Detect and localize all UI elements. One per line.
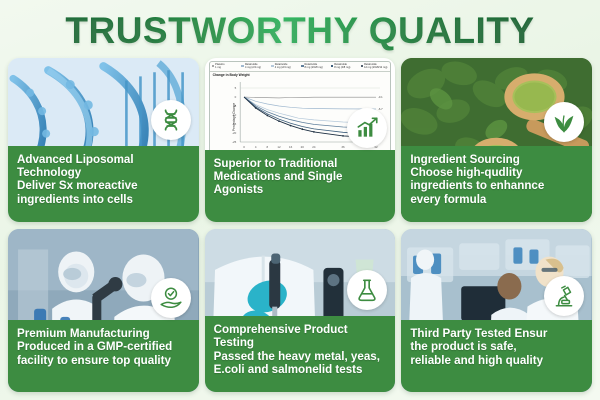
svg-text:5: 5 bbox=[234, 86, 236, 90]
legend-marker bbox=[361, 65, 364, 68]
card-third-party-tested[interactable]: Third Party Tested Ensur the product is … bbox=[401, 229, 592, 393]
svg-text:-20: -20 bbox=[232, 131, 237, 135]
legend-item: Retatrutide4 mg (2/4 mg) bbox=[271, 64, 299, 70]
card-premium-manufacturing[interactable]: Premium Manufacturing Produced in a GMP-… bbox=[8, 229, 199, 393]
legend-item: Placebo1 mg bbox=[212, 64, 240, 70]
legend-series-dose: 8 mg (4/8 mg) bbox=[334, 66, 350, 69]
dna-helix-icon bbox=[151, 100, 191, 140]
legend-item: Retatrutide12 mg (2/4/8/12 mg) bbox=[361, 64, 389, 70]
svg-text:-25: -25 bbox=[232, 140, 237, 144]
card-line: E.coli and salmonelid tests bbox=[214, 363, 387, 376]
legend-series-dose: 4 mg (2/4 mg) bbox=[245, 66, 261, 69]
leaf-icon bbox=[544, 102, 584, 142]
microscope-icon bbox=[544, 276, 584, 316]
chart-legend: Placebo1 mg Retatrutide4 mg (2/4 mg) Ret… bbox=[210, 62, 391, 72]
card-line: reliable and high quality bbox=[410, 354, 583, 367]
legend-marker bbox=[241, 65, 244, 68]
chart-title: Change in Body Weight bbox=[210, 72, 391, 78]
card-line: Passed the heavy metal, yeas, bbox=[214, 350, 387, 363]
card-ingredient-sourcing[interactable]: Ingredient Sourcing Choose high-qudlity … bbox=[401, 58, 592, 222]
card-line: every formula bbox=[410, 193, 583, 206]
card-line: Comprehensive Product bbox=[214, 323, 387, 336]
card-text-panel: Premium Manufacturing Produced in a GMP-… bbox=[8, 320, 199, 392]
legend-series-dose: 4 mg (2/4 mg) bbox=[275, 66, 291, 69]
card-line: Agonists bbox=[214, 183, 387, 196]
card-line: ingredients to enhannce bbox=[410, 179, 583, 192]
card-line: Testing bbox=[214, 336, 387, 349]
card-line: Third Party Tested Ensur bbox=[410, 327, 583, 340]
legend-marker bbox=[271, 65, 274, 68]
legend-series-dose: 1 mg bbox=[215, 66, 221, 69]
card-line: Medications and Single bbox=[214, 170, 387, 183]
card-superior-to-traditional-medications[interactable]: Placebo1 mg Retatrutide4 mg (2/4 mg) Ret… bbox=[205, 58, 396, 222]
legend-item: Retatrutide4 mg (2/4 mg) bbox=[241, 64, 269, 70]
card-line: Advanced Liposomal bbox=[17, 153, 190, 166]
card-text-panel: Ingredient Sourcing Choose high-qudlity … bbox=[401, 146, 592, 222]
svg-text:0: 0 bbox=[234, 95, 236, 99]
card-line: the product is safe, bbox=[410, 340, 583, 353]
feature-card-grid: Advanced Liposomal Technology Deliver Sx… bbox=[0, 58, 600, 400]
hand-check-icon bbox=[151, 278, 191, 318]
card-text-panel: Superior to Traditional Medications and … bbox=[205, 150, 396, 222]
chart-y-axis-label: Percentage Change bbox=[232, 103, 236, 131]
card-line: Premium Manufacturing bbox=[17, 327, 190, 340]
card-line: Choose high-qudlity bbox=[410, 166, 583, 179]
header: TRUSTWORTHY QUALITY bbox=[0, 0, 600, 58]
legend-series-dose: 8 mg (2/4/8 mg) bbox=[305, 66, 323, 69]
card-line: ingredients into cells bbox=[17, 193, 190, 206]
card-line: Technology bbox=[17, 166, 190, 179]
card-comprehensive-product-testing[interactable]: Comprehensive Product Testing Passed the… bbox=[205, 229, 396, 393]
card-text-panel: Third Party Tested Ensur the product is … bbox=[401, 320, 592, 392]
card-text-panel: Advanced Liposomal Technology Deliver Sx… bbox=[8, 146, 199, 222]
legend-marker bbox=[301, 65, 304, 68]
page-title: TRUSTWORTHY QUALITY bbox=[65, 10, 534, 52]
card-line: facility to ensure top quality bbox=[17, 354, 190, 367]
legend-marker bbox=[331, 65, 334, 68]
legend-series-dose: 12 mg (2/4/8/12 mg) bbox=[364, 66, 387, 69]
legend-item: Retatrutide8 mg (2/4/8 mg) bbox=[301, 64, 329, 70]
chart-endpoint-label: -0.1 bbox=[378, 95, 383, 99]
growth-bar-chart-icon bbox=[347, 108, 387, 148]
card-line: Produced in a GMP-certified bbox=[17, 340, 190, 353]
card-line: Deliver Sx moreactive bbox=[17, 179, 190, 192]
card-line: Ingredient Sourcing bbox=[410, 153, 583, 166]
legend-marker bbox=[212, 65, 215, 68]
card-advanced-liposomal-technology[interactable]: Advanced Liposomal Technology Deliver Sx… bbox=[8, 58, 199, 222]
card-line: Superior to Traditional bbox=[214, 157, 387, 170]
card-text-panel: Comprehensive Product Testing Passed the… bbox=[205, 316, 396, 392]
legend-item: Retatrutide8 mg (4/8 mg) bbox=[331, 64, 359, 70]
